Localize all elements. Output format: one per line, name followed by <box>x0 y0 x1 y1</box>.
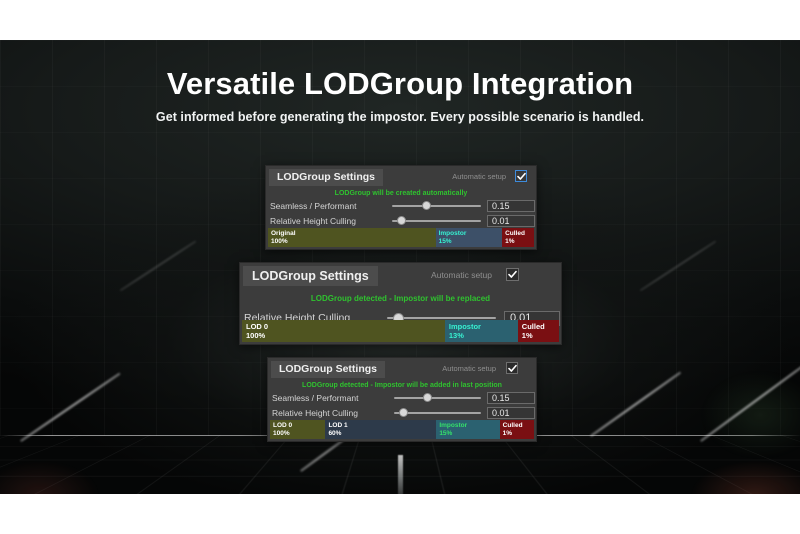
lod-segment-percent: 13% <box>449 331 518 340</box>
page-subtitle: Get informed before generating the impos… <box>0 110 800 124</box>
automatic-setup-checkbox[interactable] <box>515 170 527 182</box>
automatic-setup-checkbox[interactable] <box>506 268 519 281</box>
slider-track-line <box>394 397 481 399</box>
panel-title: LODGroup Settings <box>269 169 383 186</box>
lod-segment-percent: 1% <box>503 430 534 438</box>
slider-row: Seamless / Performant0.15 <box>266 199 536 212</box>
lod-segment-name: LOD 1 <box>328 422 436 430</box>
lod-segment-percent: 100% <box>271 238 436 246</box>
lod-bar-segment[interactable]: LOD 0100% <box>270 420 325 439</box>
lod-segment-percent: 1% <box>522 331 559 340</box>
cool-glow-right <box>700 370 800 460</box>
lod-bar-wrapper: LOD 0100%Impostor13%Culled1% <box>242 320 559 342</box>
checkmark-icon <box>508 364 517 373</box>
slider-value-field[interactable]: 0.15 <box>487 392 535 404</box>
slider-track-line <box>392 205 481 207</box>
lod-segment-percent: 15% <box>439 430 499 438</box>
lod-bar-segment[interactable]: LOD 160% <box>325 420 436 439</box>
lod-bar-segment[interactable]: Original100% <box>268 228 436 247</box>
status-note: LODGroup detected - Impostor will be add… <box>268 382 536 389</box>
panel-2: LODGroup SettingsAutomatic setupLODGroup… <box>239 262 562 345</box>
lod-segment-name: Culled <box>522 322 559 331</box>
lod-bar-segment[interactable]: Culled1% <box>518 320 559 342</box>
lod-distribution-bar[interactable]: LOD 0100%Impostor13%Culled1% <box>242 320 559 342</box>
lod-distribution-bar[interactable]: Original100%Impostor15%Culled1% <box>268 228 534 247</box>
slider-label: Relative Height Culling <box>272 408 388 418</box>
lod-bar-segment[interactable]: Culled1% <box>502 228 534 247</box>
automatic-setup-control[interactable]: Automatic setup <box>452 170 536 182</box>
slider-track[interactable] <box>392 205 481 207</box>
lod-bar-segment[interactable]: Culled1% <box>500 420 534 439</box>
lod-bar-segment[interactable]: Impostor13% <box>445 320 518 342</box>
lod-bar-segment[interactable]: Impostor15% <box>436 420 499 439</box>
panel-3: LODGroup SettingsAutomatic setupLODGroup… <box>267 357 537 442</box>
slider-handle[interactable] <box>422 201 431 210</box>
warm-glow-left <box>0 460 100 494</box>
lod-segment-percent: 100% <box>273 430 325 438</box>
lod-segment-name: Impostor <box>449 322 518 331</box>
automatic-setup-control[interactable]: Automatic setup <box>442 362 536 374</box>
promo-slide: Versatile LODGroup Integration Get infor… <box>0 0 800 534</box>
lod-bar-segment[interactable]: LOD 0100% <box>242 320 445 342</box>
slider-handle[interactable] <box>399 408 408 417</box>
lod-bar-segment[interactable]: Impostor15% <box>436 228 503 247</box>
automatic-setup-label: Automatic setup <box>431 270 492 280</box>
slider-label: Relative Height Culling <box>270 216 386 226</box>
slider-handle[interactable] <box>397 216 406 225</box>
slider-track[interactable] <box>394 397 481 399</box>
slider-row: Relative Height Culling0.01 <box>266 214 536 227</box>
lod-segment-name: Impostor <box>439 230 503 238</box>
lod-segment-percent: 100% <box>246 331 445 340</box>
lod-segment-name: Culled <box>505 230 534 238</box>
panel-title: LODGroup Settings <box>243 266 378 286</box>
panel-title: LODGroup Settings <box>271 361 385 378</box>
slider-track[interactable] <box>387 317 496 319</box>
warm-glow-right <box>690 460 800 494</box>
page-title: Versatile LODGroup Integration <box>0 66 800 102</box>
automatic-setup-control[interactable]: Automatic setup <box>431 268 561 281</box>
checkmark-icon <box>517 172 526 181</box>
automatic-setup-checkbox[interactable] <box>506 362 518 374</box>
lod-segment-name: LOD 0 <box>273 422 325 430</box>
slider-label: Seamless / Performant <box>272 393 388 403</box>
slider-value-field[interactable]: 0.01 <box>487 215 535 227</box>
slider-value-field[interactable]: 0.01 <box>487 407 535 419</box>
automatic-setup-label: Automatic setup <box>442 364 496 373</box>
lod-segment-percent: 1% <box>505 238 534 246</box>
lod-segment-name: LOD 0 <box>246 322 445 331</box>
slider-value-field[interactable]: 0.15 <box>487 200 535 212</box>
lod-segment-name: Original <box>271 230 436 238</box>
lod-segment-percent: 15% <box>439 238 503 246</box>
lod-segment-name: Impostor <box>439 422 499 430</box>
panel-header: LODGroup SettingsAutomatic setup <box>268 358 536 378</box>
lod-segment-name: Culled <box>503 422 534 430</box>
slider-track[interactable] <box>394 412 481 414</box>
lod-segment-percent: 60% <box>328 430 436 438</box>
lod-distribution-bar[interactable]: LOD 0100%LOD 160%Impostor15%Culled1% <box>270 420 534 439</box>
slider-row: Relative Height Culling0.01 <box>268 406 536 419</box>
panel-1: LODGroup SettingsAutomatic setupLODGroup… <box>265 165 537 250</box>
slider-track[interactable] <box>392 220 481 222</box>
panel-header: LODGroup SettingsAutomatic setup <box>266 166 536 186</box>
slider-handle[interactable] <box>423 393 432 402</box>
status-note: LODGroup will be created automatically <box>266 190 536 197</box>
status-note: LODGroup detected - Impostor will be rep… <box>240 294 561 303</box>
slider-row: Seamless / Performant0.15 <box>268 391 536 404</box>
checkmark-icon <box>508 270 517 279</box>
lod-bar-wrapper: LOD 0100%LOD 160%Impostor15%Culled1% <box>270 420 534 439</box>
slider-label: Seamless / Performant <box>270 201 386 211</box>
light-pillar <box>398 455 403 494</box>
automatic-setup-label: Automatic setup <box>452 172 506 181</box>
lod-bar-wrapper: Original100%Impostor15%Culled1% <box>268 228 534 247</box>
panel-header: LODGroup SettingsAutomatic setup <box>240 263 561 286</box>
